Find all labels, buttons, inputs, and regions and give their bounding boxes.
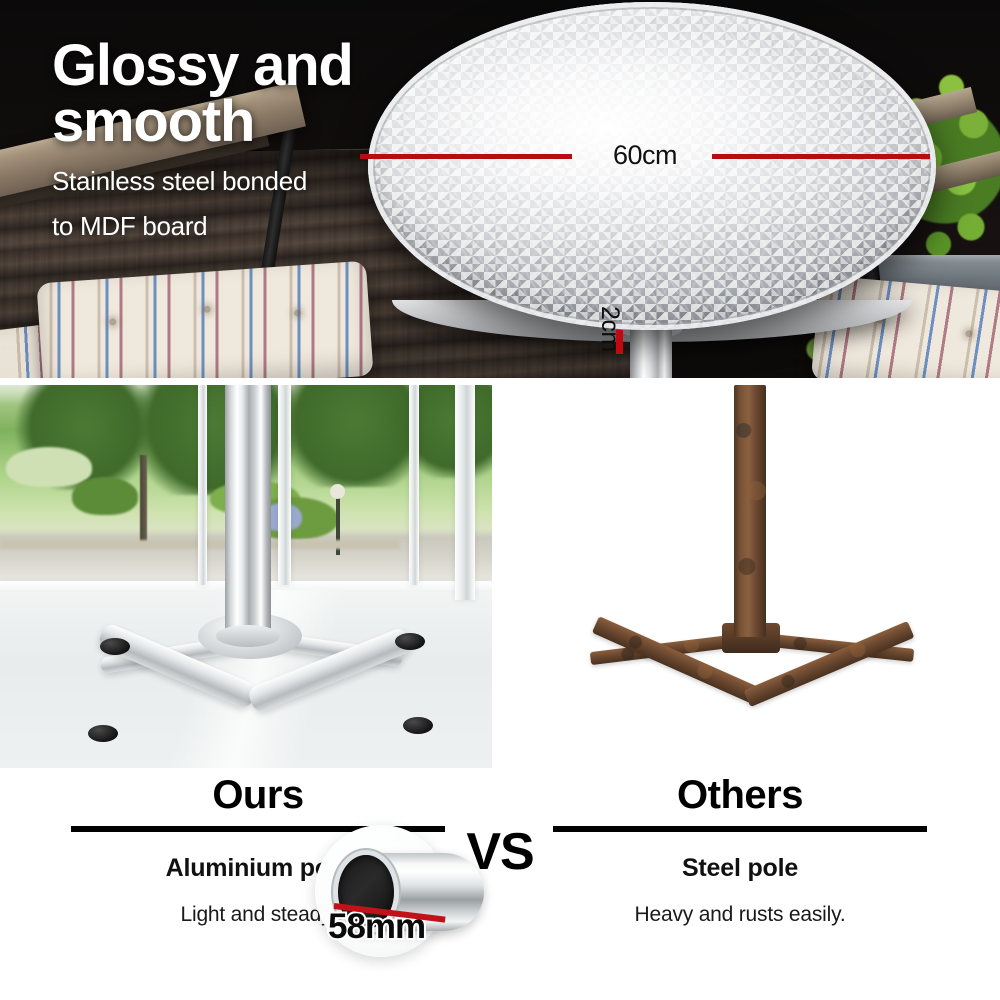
shrub xyxy=(6,447,92,487)
measurement-line-left xyxy=(360,154,572,159)
photo-steel-base xyxy=(500,385,1000,768)
headline-line-2: smooth xyxy=(52,94,353,150)
thickness-label: 2cm xyxy=(595,306,624,352)
comparison-section: Ours Aluminium pole Light and steady. VS… xyxy=(0,772,1000,1000)
column-title-ours: Ours xyxy=(38,772,478,818)
column-subtitle-others: Steel pole xyxy=(520,854,960,883)
window-mullion xyxy=(198,385,207,585)
tree-canopy xyxy=(390,385,492,478)
shrub xyxy=(72,477,138,515)
subtitle-line-1: Stainless steel bonded xyxy=(52,167,353,196)
steel-pole xyxy=(734,385,766,637)
window-mullion xyxy=(278,385,291,585)
window-mullion xyxy=(409,385,419,585)
column-title-others: Others xyxy=(520,772,960,818)
base-foot xyxy=(100,638,130,655)
subtitle-line-2: to MDF board xyxy=(52,212,353,241)
base-foot xyxy=(88,725,118,742)
cushion-tuft xyxy=(203,306,210,313)
product-feature-image: 60cm 2cm Glossy and smooth Stainless ste… xyxy=(0,0,1000,1000)
base-foot xyxy=(403,717,433,734)
headline-line-1: Glossy and xyxy=(52,38,353,94)
pole-cross-section: 58mm xyxy=(320,847,488,939)
headline-block: Glossy and smooth Stainless steel bonded… xyxy=(52,38,353,241)
column-rule-others xyxy=(553,826,927,832)
garden-lamp-head xyxy=(330,484,345,499)
cushion-tuft xyxy=(109,318,116,325)
thickness-measurement: 2cm xyxy=(616,300,676,378)
cushion-tuft xyxy=(294,309,301,316)
comparison-photo-row: 58mm xyxy=(0,385,1000,770)
window-frame-post xyxy=(455,385,475,600)
measurement-line-right xyxy=(712,154,930,159)
tree-trunk xyxy=(140,455,147,543)
diameter-measurement: 60cm xyxy=(360,140,930,174)
hero-panel: 60cm 2cm Glossy and smooth Stainless ste… xyxy=(0,0,1000,378)
column-note-others: Heavy and rusts easily. xyxy=(520,903,960,927)
aluminium-pole xyxy=(225,385,271,637)
pole-base-collar xyxy=(216,625,280,647)
photo-aluminium-base xyxy=(0,385,492,768)
base-foot xyxy=(395,633,425,650)
cushion-tuft xyxy=(965,330,973,338)
diameter-label: 60cm xyxy=(592,140,698,171)
comparison-column-others: Others Steel pole Heavy and rusts easily… xyxy=(520,772,960,927)
